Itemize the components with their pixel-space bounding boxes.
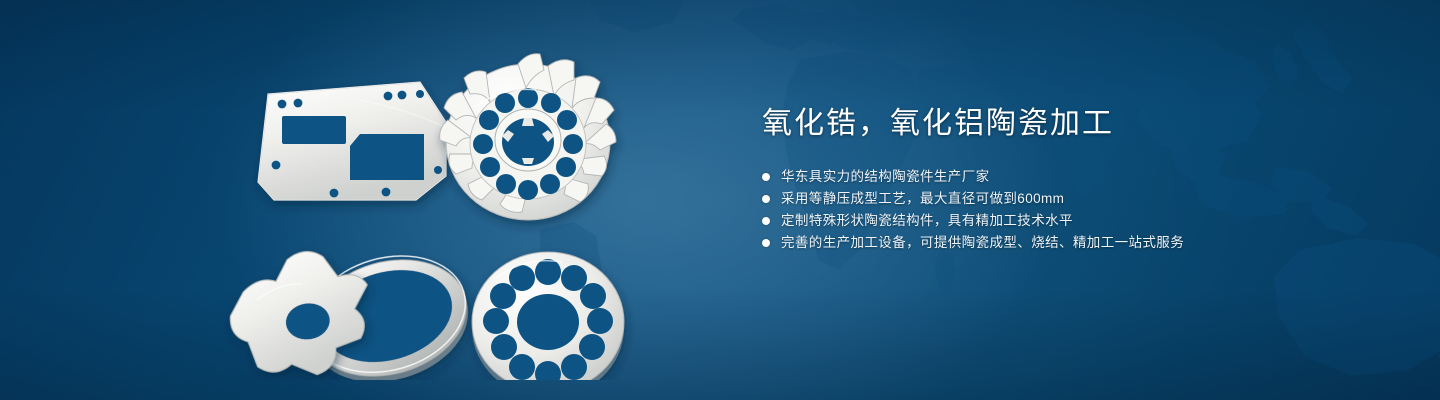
ceramic-perforated-disc xyxy=(472,252,624,380)
feature-bullet-list: 华东具实力的结构陶瓷件生产厂家 采用等静压成型工艺，最大直径可做到600mm 定… xyxy=(762,166,1382,254)
bullet-text: 完善的生产加工设备，可提供陶瓷成型、烧结、精加工一站式服务 xyxy=(781,232,1184,254)
bullet-dot-icon xyxy=(762,195,770,203)
bullet-dot-icon xyxy=(762,239,770,247)
list-item: 定制特殊形状陶瓷结构件，具有精加工技术水平 xyxy=(762,210,1382,232)
bullet-dot-icon xyxy=(762,173,770,181)
ceramic-plate xyxy=(258,82,446,200)
product-photo-group xyxy=(210,30,730,380)
banner-copy: 氧化锆，氧化铝陶瓷加工 华东具实力的结构陶瓷件生产厂家 采用等静压成型工艺，最大… xyxy=(762,104,1382,254)
bullet-text: 定制特殊形状陶瓷结构件，具有精加工技术水平 xyxy=(781,210,1073,232)
list-item: 采用等静压成型工艺，最大直径可做到600mm xyxy=(762,188,1382,210)
list-item: 华东具实力的结构陶瓷件生产厂家 xyxy=(762,166,1382,188)
ceramic-impeller xyxy=(440,54,616,220)
banner-headline: 氧化锆，氧化铝陶瓷加工 xyxy=(762,104,1382,144)
hero-banner: 氧化锆，氧化铝陶瓷加工 华东具实力的结构陶瓷件生产厂家 采用等静压成型工艺，最大… xyxy=(0,0,1440,400)
bullet-dot-icon xyxy=(762,217,770,225)
bullet-text: 采用等静压成型工艺，最大直径可做到600mm xyxy=(781,188,1064,210)
bullet-text: 华东具实力的结构陶瓷件生产厂家 xyxy=(781,166,990,188)
list-item: 完善的生产加工设备，可提供陶瓷成型、烧结、精加工一站式服务 xyxy=(762,232,1382,254)
